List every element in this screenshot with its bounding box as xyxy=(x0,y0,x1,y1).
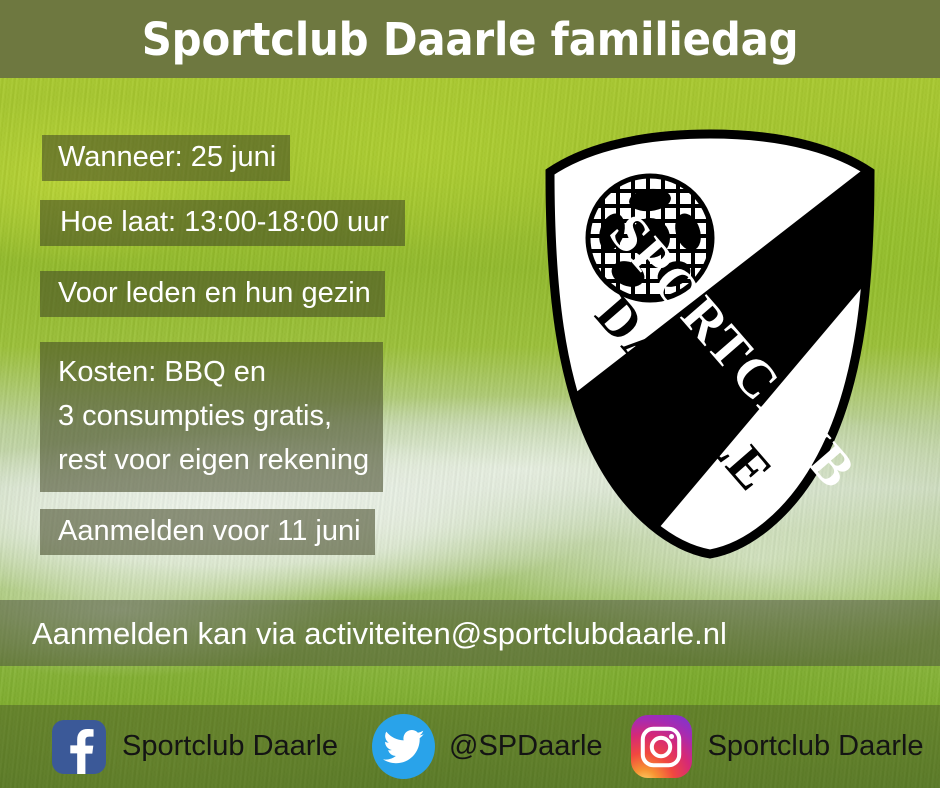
page-title: Sportclub Daarle familiedag xyxy=(142,17,799,62)
email-banner: Aanmelden kan via activiteiten@sportclub… xyxy=(0,600,940,666)
detail-voor-leden: Voor leden en hun gezin xyxy=(40,271,385,317)
detail-wanneer: Wanneer: 25 juni xyxy=(42,135,290,181)
social-link-facebook[interactable]: Sportclub Daarle xyxy=(52,705,338,788)
instagram-icon xyxy=(631,715,692,778)
detail-kosten: Kosten: BBQ en 3 consumpties gratis, res… xyxy=(40,342,383,492)
facebook-icon xyxy=(52,720,106,774)
detail-hoe-laat: Hoe laat: 13:00-18:00 uur xyxy=(40,200,405,246)
twitter-handle: @SPDaarle xyxy=(449,732,603,761)
detail-aanmelden-deadline: Aanmelden voor 11 juni xyxy=(40,509,375,555)
email-banner-text: Aanmelden kan via activiteiten@sportclub… xyxy=(0,618,727,649)
social-footer: Sportclub Daarle @SPDaarle Sportclub Daa… xyxy=(0,705,940,788)
social-link-instagram[interactable]: Sportclub Daarle xyxy=(631,705,924,788)
poster: Sportclub Daarle familiedag xyxy=(0,0,940,788)
title-band: Sportclub Daarle familiedag xyxy=(0,0,940,78)
twitter-icon xyxy=(372,714,435,779)
facebook-handle: Sportclub Daarle xyxy=(122,732,338,761)
instagram-handle: Sportclub Daarle xyxy=(708,732,924,761)
social-link-twitter[interactable]: @SPDaarle xyxy=(372,705,603,788)
club-crest: SPORTCLUB DAARLE xyxy=(540,128,880,560)
